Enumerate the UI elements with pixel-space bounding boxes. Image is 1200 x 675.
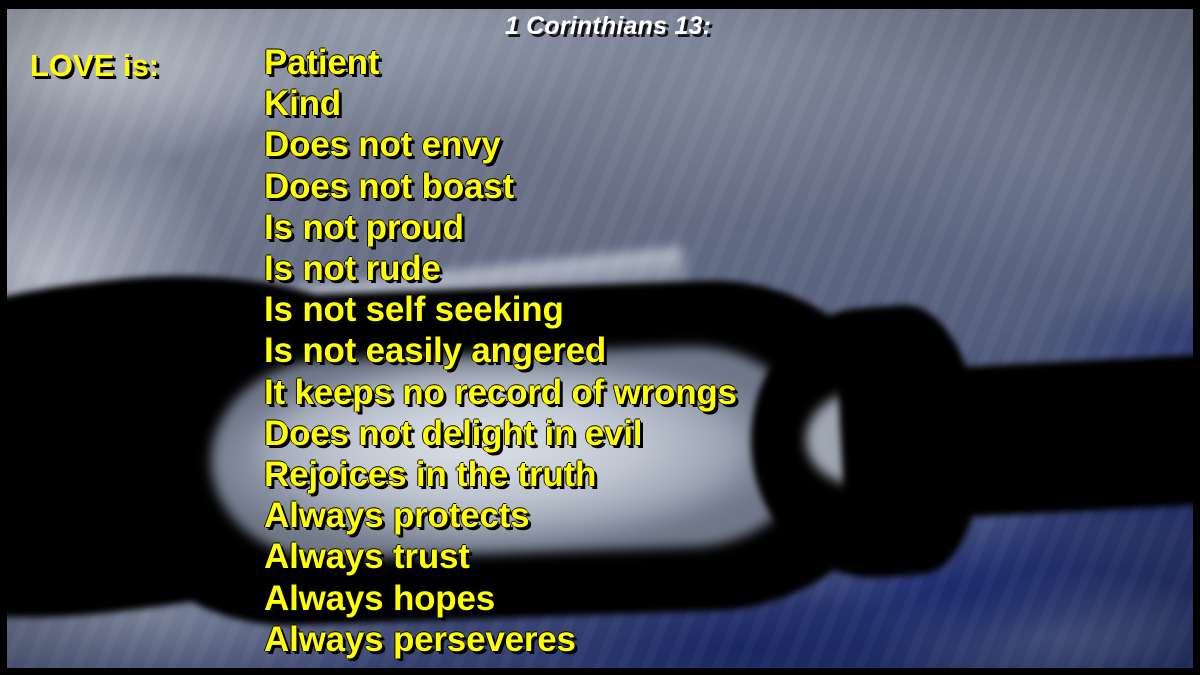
love-attribute-item: It keeps no record of wrongs	[264, 372, 737, 413]
letterbox-right	[1193, 0, 1200, 675]
love-attribute-item: Always hopes	[264, 578, 737, 619]
scripture-reference: 1 Corinthians 13:	[0, 12, 1200, 41]
love-attribute-item: Kind	[264, 83, 737, 124]
love-attribute-item: Rejoices in the truth	[264, 454, 737, 495]
love-attributes-list: PatientKindDoes not envyDoes not boastIs…	[264, 42, 737, 660]
love-attribute-item: Is not easily angered	[264, 330, 737, 371]
love-attribute-item: Always protects	[264, 495, 737, 536]
love-attribute-item: Does not envy	[264, 124, 737, 165]
love-attribute-item: Always perseveres	[264, 619, 737, 660]
love-attribute-item: Is not proud	[264, 207, 737, 248]
love-is-label: LOVE is:	[30, 48, 159, 84]
love-attribute-item: Patient	[264, 42, 737, 83]
love-attribute-item: Always trust	[264, 536, 737, 577]
scripture-slide: 1 Corinthians 13: LOVE is: PatientKindDo…	[0, 0, 1200, 675]
letterbox-top	[0, 0, 1200, 9]
letterbox-left	[0, 0, 7, 675]
love-attribute-item: Is not rude	[264, 248, 737, 289]
love-attribute-item: Does not boast	[264, 166, 737, 207]
letterbox-bottom	[0, 668, 1200, 675]
love-attribute-item: Does not delight in evil	[264, 413, 737, 454]
scripture-reference-text: 1 Corinthians 13:	[505, 12, 711, 41]
love-attribute-item: Is not self seeking	[264, 289, 737, 330]
